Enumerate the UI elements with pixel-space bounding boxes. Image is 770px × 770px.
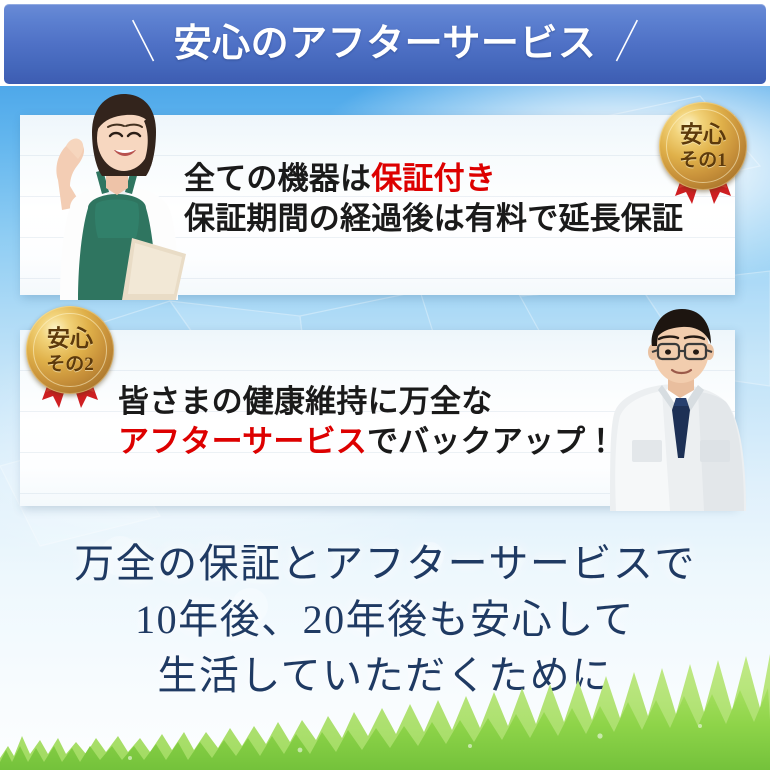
feature-card-1-line-1: 全ての機器は保証付き [184, 159, 683, 199]
feature-card-1-highlight: 保証付き [371, 161, 496, 196]
feature-card-2-line-2: アフターサービスでバックアップ！ [118, 422, 617, 462]
badge-2-label-bottom: その2 [46, 355, 94, 374]
feature-card-1-line-2: 保証期間の経過後は有料で延長保証 [184, 199, 683, 239]
feature-card-2-line-2-plain: でバックアップ！ [367, 424, 617, 459]
closing-line-3: 生活していただくために [0, 648, 770, 704]
feature-card-1-line-1-plain: 全ての機器は [184, 161, 371, 196]
left-slash-icon: ＼ [120, 19, 165, 64]
badge-1-label-bottom: その1 [679, 151, 727, 170]
medal-disc: 安心 その1 [659, 102, 747, 190]
promotional-banner: ＼ 安心のアフターサービス ／ 全ての機器は保証付き 保証期間の経過後は有料で延… [0, 0, 770, 770]
feature-card-2-text: 皆さまの健康維持に万全な アフターサービスでバックアップ！ [118, 382, 617, 463]
closing-line-1: 万全の保証とアフターサービスで [0, 536, 770, 592]
header-title: 安心のアフターサービス [174, 25, 597, 63]
medal-disc: 安心 その2 [26, 306, 114, 394]
header-banner: ＼ 安心のアフターサービス ／ [4, 4, 766, 84]
feature-card-1: 全ての機器は保証付き 保証期間の経過後は有料で延長保証 [20, 115, 735, 295]
badge-anshin-1: 安心 その1 [655, 100, 751, 216]
header-content: ＼ 安心のアフターサービス ／ [124, 25, 647, 63]
badge-anshin-2: 安心 その2 [22, 304, 118, 420]
closing-line-2: 10年後、20年後も安心して [0, 592, 770, 648]
feature-card-2: 皆さまの健康維持に万全な アフターサービスでバックアップ！ [20, 330, 735, 506]
feature-card-2-highlight: アフターサービス [118, 424, 367, 459]
badge-1-label-top: 安心 [680, 123, 726, 146]
badge-2-label-top: 安心 [47, 327, 93, 350]
feature-card-2-line-1: 皆さまの健康維持に万全な [118, 382, 617, 422]
right-slash-icon: ／ [605, 19, 650, 64]
feature-card-1-text: 全ての機器は保証付き 保証期間の経過後は有料で延長保証 [184, 159, 683, 240]
closing-message: 万全の保証とアフターサービスで 10年後、20年後も安心して 生活していただくた… [0, 536, 770, 704]
